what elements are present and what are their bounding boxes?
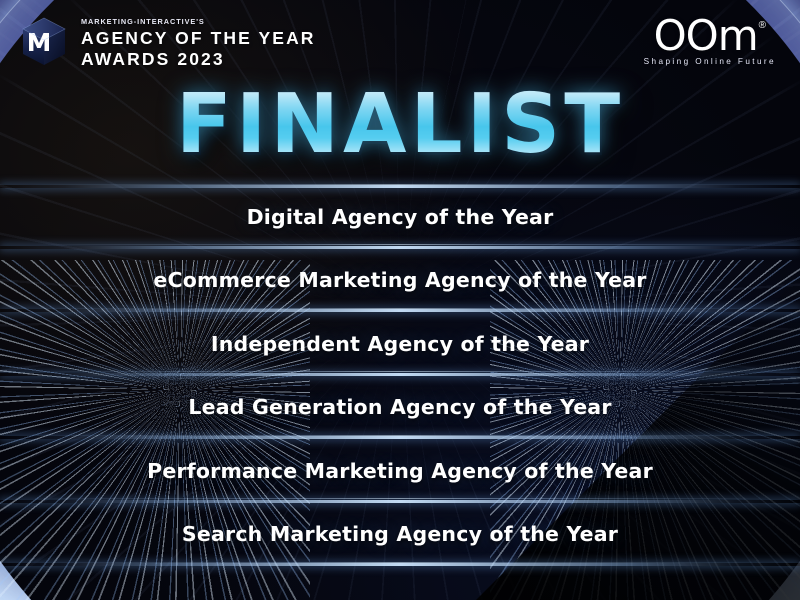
- registered-trademark-icon: ®: [759, 20, 766, 31]
- award-category-label: Performance Marketing Agency of the Year: [147, 459, 653, 483]
- list-item: Performance Marketing Agency of the Year: [0, 439, 800, 503]
- list-item: Lead Generation Agency of the Year: [0, 376, 800, 440]
- award-category-list: Digital Agency of the Year eCommerce Mar…: [0, 185, 800, 566]
- poster-canvas: MARKETING-INTERACTIVE'S AGENCY OF THE YE…: [0, 0, 800, 600]
- page-title: FINALIST: [0, 84, 800, 166]
- oom-wordmark-row: OOm ®: [644, 16, 776, 56]
- oom-logo: OOm ® Shaping Online Future: [644, 16, 776, 66]
- award-category-label: Search Marketing Agency of the Year: [182, 522, 618, 546]
- awards-brand-lockup: MARKETING-INTERACTIVE'S AGENCY OF THE YE…: [18, 14, 316, 71]
- row-separator: [0, 563, 800, 566]
- list-item: Search Marketing Agency of the Year: [0, 503, 800, 567]
- awards-title-line2: AWARDS 2023: [81, 49, 316, 70]
- list-item: eCommerce Marketing Agency of the Year: [0, 249, 800, 313]
- list-item: Independent Agency of the Year: [0, 312, 800, 376]
- awards-title-block: MARKETING-INTERACTIVE'S AGENCY OF THE YE…: [81, 14, 316, 71]
- row-separator-top: [0, 185, 800, 188]
- oom-tagline: Shaping Online Future: [644, 57, 776, 66]
- award-category-label: eCommerce Marketing Agency of the Year: [153, 268, 646, 292]
- oom-wordmark: OOm: [654, 16, 758, 56]
- marketing-interactive-cube-icon: [18, 15, 70, 69]
- list-item: Digital Agency of the Year: [0, 185, 800, 249]
- award-category-label: Lead Generation Agency of the Year: [188, 395, 611, 419]
- award-category-label: Independent Agency of the Year: [211, 332, 589, 356]
- awards-kicker: MARKETING-INTERACTIVE'S: [81, 17, 316, 26]
- award-category-label: Digital Agency of the Year: [247, 205, 554, 229]
- awards-title-line1: AGENCY OF THE YEAR: [81, 28, 316, 49]
